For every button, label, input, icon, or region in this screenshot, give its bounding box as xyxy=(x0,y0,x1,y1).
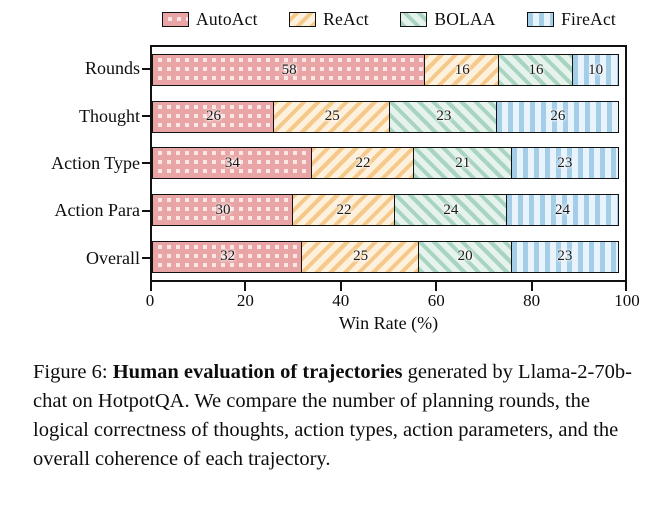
bar-value-label: 22 xyxy=(337,202,352,219)
bar-segment-autoact: 32 xyxy=(152,241,303,273)
x-axis-tick xyxy=(150,282,152,291)
y-axis-tick xyxy=(142,68,150,70)
x-axis-tick-label: 0 xyxy=(146,291,155,311)
bar-value-label: 21 xyxy=(455,155,470,172)
bar-segment-fireact: 10 xyxy=(572,54,619,86)
legend-label-react: ReAct xyxy=(323,9,369,30)
bar-value-label: 34 xyxy=(225,155,240,172)
x-axis-tick-label: 20 xyxy=(237,291,254,311)
y-axis-label-action-para: Action Para xyxy=(0,195,142,227)
x-axis-tick xyxy=(531,282,533,291)
x-axis-ticks xyxy=(150,282,627,291)
legend-swatch-react-icon xyxy=(289,12,316,27)
y-axis-label-rounds: Rounds xyxy=(0,53,142,85)
bar-row-action-para: 30222424 xyxy=(152,194,625,226)
x-axis-tick-labels: 020406080100 xyxy=(150,291,627,313)
caption-bold-title: Human evaluation of trajectories xyxy=(113,361,403,383)
y-axis-labels: Rounds Thought Action Type Action Para O… xyxy=(0,45,142,282)
bar-value-label: 24 xyxy=(555,202,570,219)
caption-prefix: Figure 6: xyxy=(33,361,113,383)
legend-item-bolaa: BOLAA xyxy=(400,9,495,30)
bar-segment-bolaa: 24 xyxy=(394,194,508,226)
x-axis-title: Win Rate (%) xyxy=(150,313,627,334)
bar-value-label: 26 xyxy=(550,108,565,125)
bar-value-label: 23 xyxy=(557,155,572,172)
bar-value-label: 23 xyxy=(436,108,451,125)
bar-segment-bolaa: 16 xyxy=(498,54,574,86)
legend-item-fireact: FireAct xyxy=(527,9,616,30)
y-axis-tick xyxy=(142,210,150,212)
bar-value-label: 25 xyxy=(325,108,340,125)
bar-segment-autoact: 34 xyxy=(152,147,313,179)
bar-value-label: 22 xyxy=(355,155,370,172)
bar-segment-autoact: 26 xyxy=(152,101,275,133)
bar-segment-react: 25 xyxy=(301,241,419,273)
bar-segment-bolaa: 20 xyxy=(418,241,513,273)
x-axis-tick-label: 40 xyxy=(332,291,349,311)
bar-value-label: 20 xyxy=(458,248,473,265)
x-axis-tick xyxy=(340,282,342,291)
chart-legend: AutoAct ReAct BOLAA FireAct xyxy=(150,4,628,34)
x-axis-tick xyxy=(435,282,437,291)
legend-swatch-autoact-icon xyxy=(162,12,189,27)
bar-segment-react: 16 xyxy=(424,54,500,86)
bar-segment-fireact: 23 xyxy=(511,241,620,273)
bar-segment-bolaa: 21 xyxy=(413,147,512,179)
bar-value-label: 24 xyxy=(443,202,458,219)
y-axis-tick xyxy=(142,115,150,117)
x-axis-tick xyxy=(625,282,627,291)
bar-value-label: 25 xyxy=(353,248,368,265)
legend-label-bolaa: BOLAA xyxy=(434,9,495,30)
plot-area: 5816161026252326342221233022242432252023 xyxy=(150,45,627,282)
y-axis-tick xyxy=(142,162,150,164)
bar-value-label: 16 xyxy=(455,62,470,79)
bar-value-label: 16 xyxy=(529,62,544,79)
legend-label-fireact: FireAct xyxy=(561,9,616,30)
bar-value-label: 26 xyxy=(206,108,221,125)
legend-label-autoact: AutoAct xyxy=(196,9,258,30)
bar-segment-fireact: 24 xyxy=(506,194,620,226)
bar-value-label: 30 xyxy=(215,202,230,219)
legend-item-react: ReAct xyxy=(289,9,369,30)
bar-segment-react: 25 xyxy=(273,101,391,133)
bar-row-thought: 26252326 xyxy=(152,101,625,133)
x-axis-tick-label: 80 xyxy=(523,291,540,311)
bar-segment-fireact: 26 xyxy=(496,101,619,133)
stacked-bar-rows: 5816161026252326342221233022242432252023 xyxy=(152,47,625,280)
bar-segment-autoact: 30 xyxy=(152,194,294,226)
y-axis-tick xyxy=(142,257,150,259)
bar-segment-bolaa: 23 xyxy=(389,101,498,133)
bar-segment-fireact: 23 xyxy=(511,147,620,179)
bar-segment-autoact: 58 xyxy=(152,54,426,86)
y-axis-label-overall: Overall xyxy=(0,242,142,274)
x-axis-tick xyxy=(244,282,246,291)
y-axis-label-thought: Thought xyxy=(0,100,142,132)
bar-row-rounds: 58161610 xyxy=(152,54,625,86)
bar-value-label: 23 xyxy=(557,248,572,265)
figure-caption: Figure 6: Human evaluation of trajectori… xyxy=(33,358,633,474)
bar-segment-react: 22 xyxy=(311,147,415,179)
legend-swatch-fireact-icon xyxy=(527,12,554,27)
bar-value-label: 58 xyxy=(282,62,297,79)
x-axis-tick-label: 100 xyxy=(614,291,640,311)
bar-value-label: 10 xyxy=(588,62,603,79)
bar-row-action-type: 34222123 xyxy=(152,147,625,179)
legend-item-autoact: AutoAct xyxy=(162,9,258,30)
y-axis-label-action-type: Action Type xyxy=(0,147,142,179)
legend-swatch-bolaa-icon xyxy=(400,12,427,27)
x-axis-tick-label: 60 xyxy=(428,291,445,311)
bar-value-label: 32 xyxy=(220,248,235,265)
bar-segment-react: 22 xyxy=(292,194,396,226)
figure-6: AutoAct ReAct BOLAA FireAct Rounds Thoug… xyxy=(0,0,650,340)
bar-row-overall: 32252023 xyxy=(152,241,625,273)
